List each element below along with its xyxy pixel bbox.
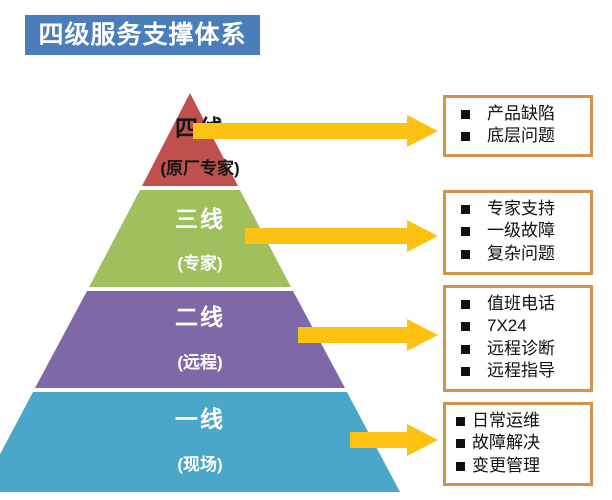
callout-item-label: 一级故障	[487, 220, 555, 242]
arrow-right-icon-tier-3	[245, 219, 438, 253]
tier-4-sublabel: (原厂专家)	[110, 160, 290, 177]
callout-box-tier-1[interactable]: 日常运维 故障解决 变更管理	[443, 402, 593, 486]
square-bullet-icon	[461, 300, 470, 309]
tier-1-label: 一线	[110, 408, 290, 431]
callout-item-label: 产品缺陷	[487, 103, 555, 125]
callout-list-tier-3: 专家支持 一级故障 复杂问题	[454, 198, 584, 265]
square-bullet-icon	[461, 345, 470, 354]
callout-item-label: 故障解决	[472, 432, 540, 454]
callout-box-tier-2[interactable]: 值班电话 7X24 远程诊断 远程指导	[443, 285, 593, 392]
callout-box-tier-4[interactable]: 产品缺陷 底层问题	[443, 95, 593, 157]
square-bullet-icon	[461, 110, 470, 119]
list-item: 远程指导	[454, 360, 584, 382]
square-bullet-icon	[461, 322, 470, 331]
square-bullet-icon	[456, 439, 465, 448]
callout-item-label: 值班电话	[487, 293, 555, 315]
tier-1-sublabel: (现场)	[110, 456, 290, 473]
list-item: 日常运维	[454, 410, 584, 432]
callout-item-label: 日常运维	[472, 410, 540, 432]
list-item: 远程诊断	[454, 338, 584, 360]
list-item: 故障解决	[454, 432, 584, 454]
callout-list-tier-2: 值班电话 7X24 远程诊断 远程指导	[454, 293, 584, 383]
square-bullet-icon	[456, 417, 465, 426]
list-item: 复杂问题	[454, 243, 584, 265]
list-item: 产品缺陷	[454, 103, 584, 125]
callout-item-label: 7X24	[487, 315, 527, 337]
callout-box-tier-3[interactable]: 专家支持 一级故障 复杂问题	[443, 190, 593, 275]
list-item: 值班电话	[454, 293, 584, 315]
arrow-right-icon-tier-2	[298, 318, 438, 352]
callout-item-label: 底层问题	[487, 125, 555, 147]
callout-item-label: 专家支持	[487, 198, 555, 220]
callout-list-tier-4: 产品缺陷 底层问题	[454, 103, 584, 148]
list-item: 一级故障	[454, 220, 584, 242]
tier-2-label: 二线	[110, 306, 290, 329]
square-bullet-icon	[461, 132, 470, 141]
square-bullet-icon	[456, 462, 465, 471]
square-bullet-icon	[461, 205, 470, 214]
callout-list-tier-1: 日常运维 故障解决 变更管理	[454, 410, 584, 477]
callout-item-label: 变更管理	[472, 455, 540, 477]
callout-item-label: 远程指导	[487, 360, 555, 382]
callout-item-label: 远程诊断	[487, 338, 555, 360]
list-item: 专家支持	[454, 198, 584, 220]
list-item: 7X24	[454, 315, 584, 337]
square-bullet-icon	[461, 367, 470, 376]
arrow-right-icon-tier-1	[350, 423, 438, 457]
square-bullet-icon	[461, 227, 470, 236]
tier-3-sublabel: (专家)	[110, 255, 290, 272]
callout-item-label: 复杂问题	[487, 243, 555, 265]
square-bullet-icon	[461, 250, 470, 259]
list-item: 变更管理	[454, 455, 584, 477]
list-item: 底层问题	[454, 125, 584, 147]
arrow-right-icon-tier-4	[193, 114, 438, 148]
tier-2-sublabel: (远程)	[110, 354, 290, 371]
